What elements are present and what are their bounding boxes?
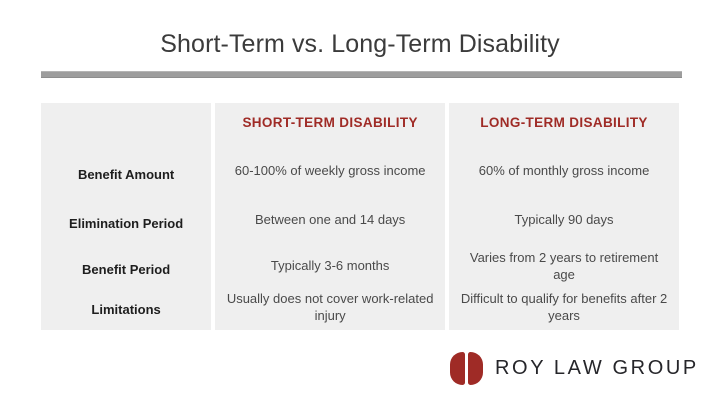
row-label-column-header — [41, 103, 211, 146]
table-column-short-term-disability: SHORT-TERM DISABILITY 60-100% of weekly … — [215, 103, 445, 330]
table-column-long-term-disability: LONG-TERM DISABILITY 60% of monthly gros… — [449, 103, 679, 330]
comparison-table: Benefit Amount Elimination Period Benefi… — [41, 103, 679, 330]
brand-name: ROY LAW GROUP — [495, 357, 699, 380]
split-circle-mark-icon — [450, 352, 483, 385]
column-header-short-term-disability: SHORT-TERM DISABILITY — [215, 103, 445, 142]
cell-short-term-benefit-period: Typically 3-6 months — [215, 241, 445, 290]
column-header-long-term-disability: LONG-TERM DISABILITY — [449, 103, 679, 142]
logo-petal-left — [450, 352, 465, 385]
row-label-limitations: Limitations — [41, 294, 211, 330]
brand-logo: ROY LAW GROUP — [450, 346, 699, 390]
cell-long-term-benefit-amount: 60% of monthly gross income — [449, 142, 679, 198]
short-term-cells: 60-100% of weekly gross income Between o… — [215, 142, 445, 330]
cell-long-term-benefit-period: Varies from 2 years to retirement age — [449, 241, 679, 290]
cell-long-term-elimination-period: Typically 90 days — [449, 198, 679, 241]
row-label-benefit-amount: Benefit Amount — [41, 146, 211, 202]
cell-long-term-limitations: Difficult to qualify for benefits after … — [449, 290, 679, 330]
table-column-row-labels: Benefit Amount Elimination Period Benefi… — [41, 103, 211, 330]
logo-petal-right — [468, 352, 483, 385]
cell-short-term-limitations: Usually does not cover work-related inju… — [215, 290, 445, 330]
page-title: Short-Term vs. Long-Term Disability — [0, 28, 720, 60]
cell-short-term-elimination-period: Between one and 14 days — [215, 198, 445, 241]
row-label-benefit-period: Benefit Period — [41, 245, 211, 294]
long-term-cells: 60% of monthly gross income Typically 90… — [449, 142, 679, 330]
title-divider-rule — [41, 71, 682, 78]
row-label-elimination-period: Elimination Period — [41, 202, 211, 245]
cell-short-term-benefit-amount: 60-100% of weekly gross income — [215, 142, 445, 198]
row-label-cells: Benefit Amount Elimination Period Benefi… — [41, 146, 211, 330]
